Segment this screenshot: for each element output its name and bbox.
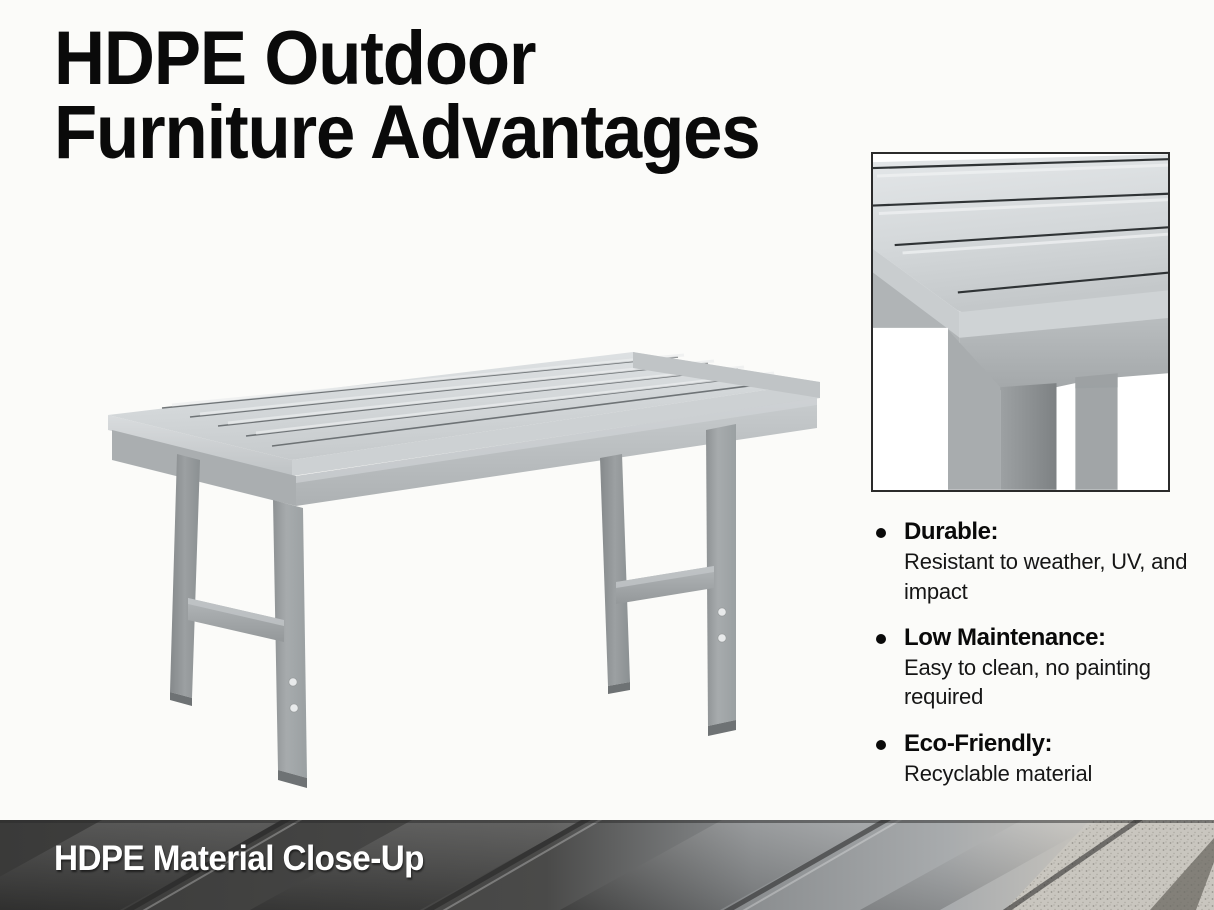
banner-caption: HDPE Material Close-Up [54, 840, 424, 879]
bullet-dot-icon [876, 740, 886, 750]
bullet-description: Easy to clean, no painting required [904, 653, 1198, 712]
closeup-panel [871, 152, 1170, 492]
bullet-dot-icon [876, 528, 886, 538]
bolt-icon [718, 634, 726, 642]
slide-root: HDPE Outdoor Furniture Advantages [0, 0, 1214, 910]
hdpe-table-illustration [60, 330, 860, 800]
page-title: HDPE Outdoor Furniture Advantages [54, 22, 817, 171]
list-item: Durable: Resistant to weather, UV, and i… [868, 517, 1198, 606]
list-item: Eco-Friendly: Recyclable material [868, 729, 1198, 789]
hdpe-corner-closeup-illustration [873, 154, 1168, 490]
bullet-dot-icon [876, 634, 886, 644]
bullet-description: Recyclable material [904, 759, 1198, 788]
bullet-title: Durable: [904, 517, 1198, 546]
bolt-icon [289, 678, 297, 686]
list-item: Low Maintenance: Easy to clean, no paint… [868, 623, 1198, 712]
bullet-title: Low Maintenance: [904, 623, 1198, 652]
bolt-icon [718, 608, 726, 616]
hero-image [60, 330, 860, 800]
bullet-description: Resistant to weather, UV, and impact [904, 547, 1198, 606]
bolt-icon [290, 704, 298, 712]
advantages-list: Durable: Resistant to weather, UV, and i… [868, 517, 1198, 805]
bullet-title: Eco-Friendly: [904, 729, 1198, 758]
